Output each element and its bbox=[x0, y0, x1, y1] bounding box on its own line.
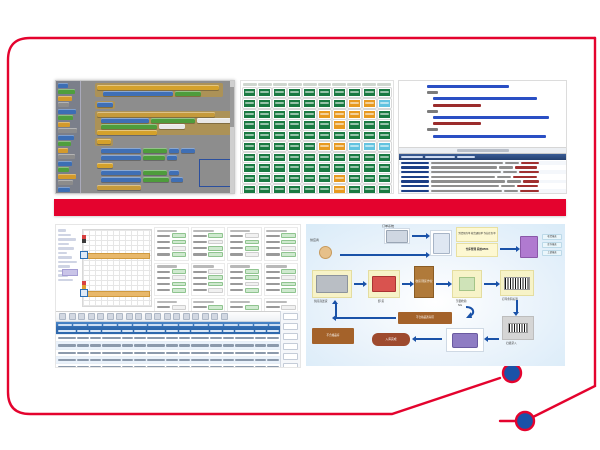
flow-node-barcode-label[interactable] bbox=[500, 270, 534, 296]
slot-grid-cells[interactable] bbox=[241, 86, 393, 194]
slot-cell-r3-c10[interactable] bbox=[378, 110, 391, 119]
wms-form-card-2[interactable] bbox=[191, 227, 226, 261]
slot-cell-r9-c10[interactable] bbox=[378, 174, 391, 183]
slot-cell-r1-c2[interactable] bbox=[258, 88, 271, 97]
slot-cell-r10-c8[interactable] bbox=[348, 185, 361, 194]
block-text-1[interactable] bbox=[197, 118, 231, 123]
wms-column-header-1[interactable] bbox=[58, 324, 72, 326]
wms-aisle-bar-1[interactable] bbox=[86, 253, 150, 259]
wms-column-header-10[interactable] bbox=[194, 324, 208, 326]
wms-field-value[interactable] bbox=[245, 305, 259, 310]
slot-cell-r5-c8[interactable] bbox=[348, 131, 361, 140]
block-set-b1[interactable] bbox=[101, 170, 141, 175]
wms-toolbar-button-13[interactable] bbox=[173, 313, 180, 320]
slot-cell-r1-c1[interactable] bbox=[243, 88, 256, 97]
slot-cell-r7-c5[interactable] bbox=[303, 153, 316, 162]
block-local-var[interactable] bbox=[97, 139, 111, 144]
wms-form-area[interactable] bbox=[56, 225, 300, 310]
wms-column-header-7[interactable] bbox=[148, 324, 162, 326]
wms-toolbar-button-12[interactable] bbox=[164, 313, 171, 320]
palette-item-label[interactable] bbox=[58, 148, 68, 153]
wms-column-header-9[interactable] bbox=[179, 324, 193, 326]
flow-node-wms-terminal[interactable] bbox=[430, 230, 452, 256]
wms-data-grid[interactable] bbox=[56, 311, 300, 367]
wms-field-row[interactable] bbox=[266, 275, 296, 280]
flow-node-report-c[interactable]: 上架报表 bbox=[542, 250, 562, 256]
wms-field-value[interactable] bbox=[172, 233, 186, 238]
palette-item-procedures[interactable] bbox=[58, 128, 77, 133]
block-get-a2[interactable] bbox=[143, 155, 165, 160]
slot-cell-r9-c2[interactable] bbox=[258, 174, 271, 183]
block-num-a3[interactable] bbox=[167, 155, 177, 160]
slot-cell-r7-c8[interactable] bbox=[348, 153, 361, 162]
slot-cell-r10-c1[interactable] bbox=[243, 185, 256, 194]
slot-cell-r1-c10[interactable] bbox=[378, 88, 391, 97]
palette-item-text[interactable] bbox=[58, 102, 69, 107]
wms-table-row[interactable] bbox=[56, 357, 300, 364]
slot-cell-r3-c1[interactable] bbox=[243, 110, 256, 119]
wms-field-value[interactable] bbox=[172, 275, 186, 280]
wms-field-row[interactable] bbox=[193, 233, 223, 238]
slot-cell-r7-c2[interactable] bbox=[258, 153, 271, 162]
palette-item-tinydb[interactable] bbox=[58, 187, 70, 192]
flow-node-reject-stock[interactable]: 不合格品库 bbox=[312, 328, 354, 344]
block-set-a1[interactable] bbox=[101, 148, 141, 153]
slot-cell-r10-c6[interactable] bbox=[318, 185, 331, 194]
palette-item-textbox[interactable] bbox=[58, 154, 75, 159]
wms-toolbar-button-6[interactable] bbox=[107, 313, 114, 320]
wms-field-value[interactable] bbox=[281, 282, 295, 287]
wms-field-row[interactable] bbox=[157, 288, 187, 293]
wms-field-value[interactable] bbox=[281, 246, 295, 251]
wms-field-value[interactable] bbox=[245, 233, 259, 238]
wms-toolbar-button-14[interactable] bbox=[183, 313, 190, 320]
log-row-6[interactable] bbox=[399, 184, 566, 188]
slot-cell-r2-c7[interactable] bbox=[333, 99, 346, 108]
block-num-a1[interactable] bbox=[169, 148, 179, 153]
wms-toolbar-button-18[interactable] bbox=[221, 313, 228, 320]
output-log-window[interactable] bbox=[399, 153, 566, 193]
flow-node-report-b[interactable]: 库存报表 bbox=[542, 242, 562, 248]
slot-cell-r6-c1[interactable] bbox=[243, 142, 256, 151]
wms-field-row[interactable] bbox=[193, 252, 223, 257]
flow-node-qc-check[interactable] bbox=[452, 270, 482, 298]
wms-field-value[interactable] bbox=[281, 252, 295, 257]
wms-toolbar-button-11[interactable] bbox=[154, 313, 161, 320]
palette-item-logic[interactable] bbox=[58, 89, 75, 94]
log-row-2[interactable] bbox=[399, 166, 566, 170]
log-row-5[interactable] bbox=[399, 180, 566, 184]
wms-form-card-7[interactable] bbox=[227, 263, 262, 297]
slot-cell-r5-c4[interactable] bbox=[288, 131, 301, 140]
slot-cell-r8-c8[interactable] bbox=[348, 163, 361, 172]
slot-cell-r2-c6[interactable] bbox=[318, 99, 331, 108]
wms-side-buttons[interactable] bbox=[280, 311, 300, 367]
wms-field-row[interactable] bbox=[193, 269, 223, 274]
wms-tree-item-8[interactable] bbox=[58, 261, 77, 264]
slot-cell-r6-c5[interactable] bbox=[303, 142, 316, 151]
wms-column-header-13[interactable] bbox=[239, 324, 253, 326]
wms-field-value[interactable] bbox=[208, 240, 222, 245]
log-row-1[interactable] bbox=[399, 161, 566, 165]
wms-column-header-14[interactable] bbox=[254, 324, 268, 326]
slot-cell-r5-c2[interactable] bbox=[258, 131, 271, 140]
palette-item-lists[interactable] bbox=[58, 109, 76, 114]
blocks-canvas[interactable] bbox=[81, 81, 234, 193]
wms-field-row[interactable] bbox=[230, 269, 260, 274]
slot-cell-r7-c1[interactable] bbox=[243, 153, 256, 162]
blocks-scrollbar[interactable] bbox=[230, 81, 234, 193]
block-get-b1[interactable] bbox=[143, 170, 167, 175]
wms-form-card-3[interactable] bbox=[227, 227, 262, 261]
wms-field-value[interactable] bbox=[208, 288, 222, 293]
panel-process-flow[interactable]: 订单系统 供应商 到货预约单 收货通知单 作业任务单 仓库管理 系统WMS 收货… bbox=[306, 224, 565, 366]
slot-cell-r6-c7[interactable] bbox=[333, 142, 346, 151]
wms-field-value[interactable] bbox=[281, 233, 295, 238]
block-logic-1[interactable] bbox=[175, 91, 201, 96]
wms-column-header-3[interactable] bbox=[88, 324, 102, 326]
slot-cell-r9-c5[interactable] bbox=[303, 174, 316, 183]
wms-tree-item-5[interactable] bbox=[58, 247, 74, 250]
slot-cell-r1-c4[interactable] bbox=[288, 88, 301, 97]
block-num-a2[interactable] bbox=[181, 148, 195, 153]
slot-cell-r7-c7[interactable] bbox=[333, 153, 346, 162]
slot-cell-r1-c6[interactable] bbox=[318, 88, 331, 97]
slot-cell-r1-c8[interactable] bbox=[348, 88, 361, 97]
slot-cell-r5-c7[interactable] bbox=[333, 131, 346, 140]
block-num-b1[interactable] bbox=[169, 170, 179, 175]
wms-field-row[interactable] bbox=[230, 246, 260, 251]
slot-cell-r5-c6[interactable] bbox=[318, 131, 331, 140]
block-set-b2[interactable] bbox=[101, 177, 141, 182]
wms-table-row[interactable] bbox=[56, 342, 300, 349]
wms-field-row[interactable] bbox=[230, 252, 260, 257]
wms-column-header-5[interactable] bbox=[118, 324, 132, 326]
slot-cell-r6-c3[interactable] bbox=[273, 142, 286, 151]
wms-field-value[interactable] bbox=[245, 240, 259, 245]
wms-field-value[interactable] bbox=[208, 282, 222, 287]
slot-cell-r3-c3[interactable] bbox=[273, 110, 286, 119]
block-call-2[interactable] bbox=[151, 118, 195, 123]
wms-tree-item-4[interactable] bbox=[58, 243, 69, 246]
wms-field-row[interactable] bbox=[157, 305, 187, 310]
slot-cell-r5-c9[interactable] bbox=[363, 131, 376, 140]
slot-cell-r10-c3[interactable] bbox=[273, 185, 286, 194]
wms-field-row[interactable] bbox=[193, 305, 223, 310]
log-row-3[interactable] bbox=[399, 170, 566, 174]
slot-cell-r2-c2[interactable] bbox=[258, 99, 271, 108]
slot-cell-r6-c4[interactable] bbox=[288, 142, 301, 151]
wms-field-row[interactable] bbox=[157, 252, 187, 257]
wms-field-row[interactable] bbox=[230, 305, 260, 310]
wms-toolbar-button-3[interactable] bbox=[78, 313, 85, 320]
wms-field-row[interactable] bbox=[266, 252, 296, 257]
wms-column-header-11[interactable] bbox=[209, 324, 223, 326]
palette-item-clock[interactable] bbox=[58, 167, 69, 172]
slot-cell-r8-c4[interactable] bbox=[288, 163, 301, 172]
wms-column-header-2[interactable] bbox=[73, 324, 87, 326]
wms-field-row[interactable] bbox=[230, 282, 260, 287]
slot-cell-r8-c10[interactable] bbox=[378, 163, 391, 172]
flow-node-order-system[interactable] bbox=[384, 228, 410, 244]
log-row-7[interactable] bbox=[399, 189, 566, 193]
wms-field-value[interactable] bbox=[208, 233, 222, 238]
block-closing[interactable] bbox=[97, 185, 141, 190]
block-proc-footer[interactable] bbox=[97, 130, 157, 135]
wms-field-value[interactable] bbox=[245, 269, 259, 274]
palette-item-screen[interactable] bbox=[58, 135, 74, 140]
slot-cell-r5-c1[interactable] bbox=[243, 131, 256, 140]
slot-cell-r2-c10[interactable] bbox=[378, 99, 391, 108]
slot-cell-r9-c9[interactable] bbox=[363, 174, 376, 183]
slot-cell-r10-c9[interactable] bbox=[363, 185, 376, 194]
slot-cell-r1-c5[interactable] bbox=[303, 88, 316, 97]
palette-item-button[interactable] bbox=[58, 141, 71, 146]
wms-column-header-4[interactable] bbox=[103, 324, 117, 326]
palette-item-notifier[interactable] bbox=[58, 193, 77, 194]
slot-cell-r6-c9[interactable] bbox=[363, 142, 376, 151]
slot-cell-r1-c7[interactable] bbox=[333, 88, 346, 97]
wms-toolbar-button-17[interactable] bbox=[211, 313, 218, 320]
wms-field-row[interactable] bbox=[157, 246, 187, 251]
flow-node-reports[interactable] bbox=[520, 236, 538, 258]
wms-field-row[interactable] bbox=[157, 282, 187, 287]
wms-toolbar-button-10[interactable] bbox=[145, 313, 152, 320]
block-get-b2[interactable] bbox=[143, 177, 169, 182]
slot-cell-r6-c6[interactable] bbox=[318, 142, 331, 151]
wms-form-card-1[interactable] bbox=[154, 227, 189, 261]
slot-cell-r2-c4[interactable] bbox=[288, 99, 301, 108]
palette-item-variables[interactable] bbox=[58, 122, 70, 127]
slot-cell-r8-c7[interactable] bbox=[333, 163, 346, 172]
slot-cell-r3-c6[interactable] bbox=[318, 110, 331, 119]
slot-cell-r4-c10[interactable] bbox=[378, 120, 391, 129]
slot-cell-r2-c5[interactable] bbox=[303, 99, 316, 108]
slot-cell-r4-c6[interactable] bbox=[318, 120, 331, 129]
palette-item-math[interactable] bbox=[58, 96, 72, 101]
wms-field-row[interactable] bbox=[266, 305, 296, 310]
slot-cell-r5-c5[interactable] bbox=[303, 131, 316, 140]
wms-node-1[interactable] bbox=[80, 251, 88, 259]
slot-cell-r2-c8[interactable] bbox=[348, 99, 361, 108]
wms-form-card-6[interactable] bbox=[191, 263, 226, 297]
wms-field-value[interactable] bbox=[281, 240, 295, 245]
slot-cell-r7-c3[interactable] bbox=[273, 153, 286, 162]
output-log-rows[interactable] bbox=[399, 160, 566, 194]
wms-field-value[interactable] bbox=[208, 269, 222, 274]
wms-field-value[interactable] bbox=[245, 282, 259, 287]
flow-node-delivery[interactable] bbox=[312, 270, 352, 298]
wms-field-row[interactable] bbox=[157, 233, 187, 238]
wms-field-value[interactable] bbox=[172, 282, 186, 287]
wms-field-value[interactable] bbox=[245, 252, 259, 257]
wms-tree-item-2[interactable] bbox=[58, 234, 71, 237]
wms-form-card-4[interactable] bbox=[264, 227, 299, 261]
wms-field-row[interactable] bbox=[230, 288, 260, 293]
slot-cell-r5-c10[interactable] bbox=[378, 131, 391, 140]
wms-toolbar-button-15[interactable] bbox=[192, 313, 199, 320]
wms-field-value[interactable] bbox=[172, 305, 186, 310]
block-num-b2[interactable] bbox=[171, 177, 183, 182]
flow-node-inbound-done[interactable]: 入库完成 bbox=[372, 333, 410, 346]
wms-field-row[interactable] bbox=[193, 240, 223, 245]
slot-cell-r9-c4[interactable] bbox=[288, 174, 301, 183]
wms-field-value[interactable] bbox=[281, 269, 295, 274]
palette-item-control[interactable] bbox=[58, 83, 68, 88]
wms-field-row[interactable] bbox=[266, 269, 296, 274]
flow-node-supplier-staff[interactable] bbox=[312, 242, 338, 262]
slot-cell-r10-c7[interactable] bbox=[333, 185, 346, 194]
flow-node-scan-in[interactable] bbox=[502, 316, 534, 340]
wms-field-value[interactable] bbox=[172, 288, 186, 293]
wms-form-cards[interactable] bbox=[154, 227, 298, 309]
wms-field-value[interactable] bbox=[172, 269, 186, 274]
slot-cell-r8-c3[interactable] bbox=[273, 163, 286, 172]
panel-wms-config[interactable] bbox=[55, 224, 301, 368]
wms-field-value[interactable] bbox=[208, 305, 222, 310]
slot-cell-r4-c3[interactable] bbox=[273, 120, 286, 129]
wms-field-row[interactable] bbox=[266, 282, 296, 287]
wms-field-value[interactable] bbox=[208, 246, 222, 251]
palette-item-colors[interactable] bbox=[58, 115, 73, 120]
wms-grid-body[interactable] bbox=[56, 328, 300, 368]
wms-side-button-1[interactable] bbox=[283, 313, 298, 320]
wms-field-value[interactable] bbox=[172, 252, 186, 257]
slot-cell-r6-c2[interactable] bbox=[258, 142, 271, 151]
block-event-when[interactable] bbox=[97, 85, 219, 90]
block-get-a1[interactable] bbox=[143, 148, 167, 153]
wms-field-value[interactable] bbox=[172, 246, 186, 251]
slot-cell-r10-c5[interactable] bbox=[303, 185, 316, 194]
wms-form-card-8[interactable] bbox=[264, 263, 299, 297]
slot-cell-r6-c10[interactable] bbox=[378, 142, 391, 151]
flow-node-receive-op[interactable]: 收货 理货 作业 bbox=[414, 266, 434, 298]
wms-field-value[interactable] bbox=[281, 275, 295, 280]
wms-field-value[interactable] bbox=[281, 305, 295, 310]
slot-cell-r3-c8[interactable] bbox=[348, 110, 361, 119]
slot-cell-r8-c9[interactable] bbox=[363, 163, 376, 172]
log-row-4[interactable] bbox=[399, 175, 566, 179]
slot-cell-r10-c2[interactable] bbox=[258, 185, 271, 194]
wms-side-button-3[interactable] bbox=[283, 333, 298, 340]
wms-toolbar-button-9[interactable] bbox=[135, 313, 142, 320]
wms-field-row[interactable] bbox=[157, 240, 187, 245]
wms-table-row[interactable] bbox=[56, 364, 300, 368]
slot-cell-r7-c10[interactable] bbox=[378, 153, 391, 162]
slot-cell-r9-c3[interactable] bbox=[273, 174, 286, 183]
slot-cell-r3-c4[interactable] bbox=[288, 110, 301, 119]
slot-cell-r2-c3[interactable] bbox=[273, 99, 286, 108]
block-local-var-2[interactable] bbox=[97, 163, 113, 168]
slot-cell-r8-c2[interactable] bbox=[258, 163, 271, 172]
wms-table-row[interactable] bbox=[56, 328, 300, 335]
slot-cell-r4-c4[interactable] bbox=[288, 120, 301, 129]
slot-cell-r5-c3[interactable] bbox=[273, 131, 286, 140]
flow-node-notice-list[interactable]: 到货预约单 收货通知单 作业任务单 bbox=[456, 227, 498, 242]
wms-tree-item-7[interactable] bbox=[58, 256, 72, 259]
wms-side-button-6[interactable] bbox=[283, 363, 298, 368]
wms-field-row[interactable] bbox=[193, 275, 223, 280]
block-set-a2[interactable] bbox=[101, 155, 141, 160]
slot-cell-r1-c9[interactable] bbox=[363, 88, 376, 97]
wms-field-row[interactable] bbox=[193, 282, 223, 287]
wms-toolbar-button-2[interactable] bbox=[69, 313, 76, 320]
flow-node-unload[interactable] bbox=[368, 270, 400, 298]
wms-field-value[interactable] bbox=[208, 252, 222, 257]
wms-side-button-4[interactable] bbox=[283, 343, 298, 350]
flow-node-report-a[interactable]: 收货报表 bbox=[542, 234, 562, 240]
slot-cell-r2-c9[interactable] bbox=[363, 99, 376, 108]
slot-cell-r4-c9[interactable] bbox=[363, 120, 376, 129]
slot-cell-r1-c3[interactable] bbox=[273, 88, 286, 97]
flow-node-shelving[interactable] bbox=[446, 328, 484, 352]
slot-cell-r9-c7[interactable] bbox=[333, 174, 346, 183]
wms-field-row[interactable] bbox=[230, 240, 260, 245]
panel-code-ide[interactable] bbox=[398, 80, 567, 194]
wms-side-button-5[interactable] bbox=[283, 353, 298, 360]
wms-field-value[interactable] bbox=[245, 275, 259, 280]
slot-cell-r4-c2[interactable] bbox=[258, 120, 271, 129]
block-setter-1[interactable] bbox=[103, 91, 173, 96]
slot-cell-r9-c8[interactable] bbox=[348, 174, 361, 183]
slot-cell-r7-c4[interactable] bbox=[288, 153, 301, 162]
wms-side-button-2[interactable] bbox=[283, 323, 298, 330]
slot-cell-r9-c1[interactable] bbox=[243, 174, 256, 183]
wms-field-row[interactable] bbox=[266, 233, 296, 238]
slot-cell-r6-c8[interactable] bbox=[348, 142, 361, 151]
slot-cell-r4-c5[interactable] bbox=[303, 120, 316, 129]
block-proc-header[interactable] bbox=[97, 112, 215, 117]
wms-tree-item-3[interactable] bbox=[58, 238, 76, 241]
wms-field-row[interactable] bbox=[157, 269, 187, 274]
slot-cell-r9-c6[interactable] bbox=[318, 174, 331, 183]
slot-cell-r3-c9[interactable] bbox=[363, 110, 376, 119]
wms-toolbar-button-1[interactable] bbox=[59, 313, 66, 320]
wms-tree-item-9[interactable] bbox=[58, 265, 70, 268]
block-call-1[interactable] bbox=[101, 118, 149, 123]
slot-cell-r7-c6[interactable] bbox=[318, 153, 331, 162]
wms-column-header-8[interactable] bbox=[163, 324, 177, 326]
wms-field-value[interactable] bbox=[208, 275, 222, 280]
code-editor[interactable] bbox=[399, 81, 566, 147]
wms-toolbar-button-8[interactable] bbox=[126, 313, 133, 320]
slot-cell-r10-c4[interactable] bbox=[288, 185, 301, 194]
wms-node-2[interactable] bbox=[80, 289, 88, 297]
slot-cell-r4-c7[interactable] bbox=[333, 120, 346, 129]
wms-field-value[interactable] bbox=[245, 288, 259, 293]
slot-cell-r4-c1[interactable] bbox=[243, 120, 256, 129]
wms-field-value[interactable] bbox=[245, 246, 259, 251]
palette-item-bluetooth[interactable] bbox=[58, 180, 73, 185]
wms-field-row[interactable] bbox=[193, 246, 223, 251]
wms-field-row[interactable] bbox=[193, 288, 223, 293]
wms-tree-item-6[interactable] bbox=[58, 252, 67, 255]
slot-cell-r2-c1[interactable] bbox=[243, 99, 256, 108]
wms-table-row[interactable] bbox=[56, 350, 300, 357]
wms-field-row[interactable] bbox=[230, 233, 260, 238]
slot-cell-r3-c7[interactable] bbox=[333, 110, 346, 119]
wms-tree-item-1[interactable] bbox=[58, 229, 66, 232]
wms-toolbar-button-4[interactable] bbox=[88, 313, 95, 320]
wms-column-header-12[interactable] bbox=[224, 324, 238, 326]
wms-field-row[interactable] bbox=[266, 288, 296, 293]
blocks-palette[interactable] bbox=[56, 81, 81, 193]
wms-tree-item-12[interactable] bbox=[58, 279, 73, 282]
wms-field-value[interactable] bbox=[172, 240, 186, 245]
wms-toolbar-button-7[interactable] bbox=[116, 313, 123, 320]
panel-slot-grid[interactable] bbox=[240, 80, 394, 194]
slot-cell-r8-c6[interactable] bbox=[318, 163, 331, 172]
